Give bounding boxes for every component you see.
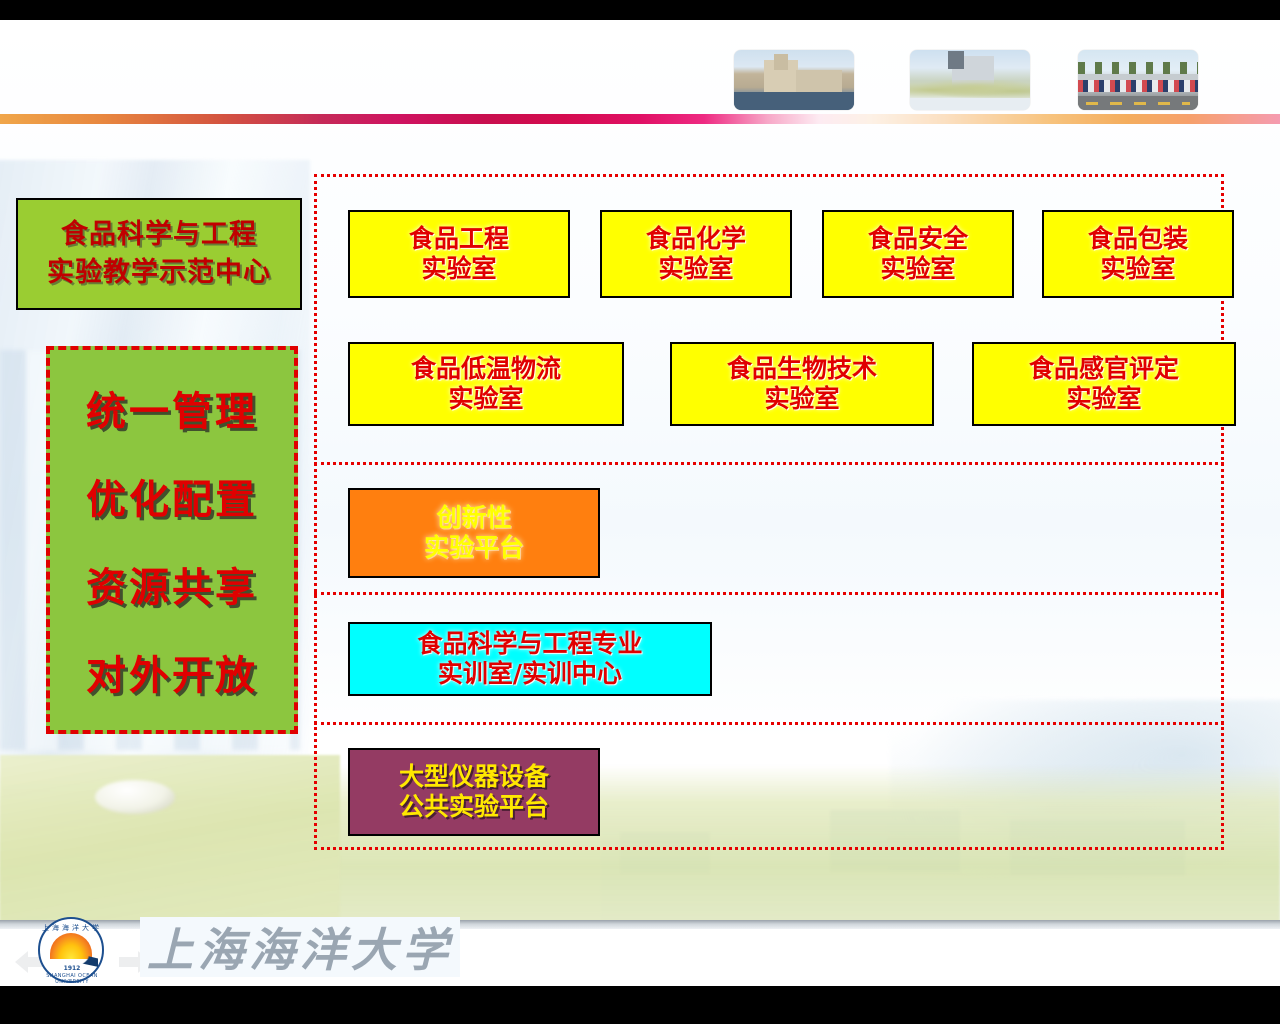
center-title-line-2: 实验教学示范中心 (47, 254, 271, 292)
innovation-label-line-2: 实验平台 (424, 533, 524, 564)
training-label-line-1: 食品科学与工程专业 (417, 629, 642, 660)
center-title-line-1: 食品科学与工程 (61, 216, 257, 254)
lab-box-food-chemistry[interactable]: 食品化学 实验室 (600, 210, 792, 298)
innovation-label-line-1: 创新性 (436, 503, 511, 534)
lab-label-line-2: 实验室 (1100, 254, 1175, 285)
principle-item-3: 资源共享 (86, 555, 258, 613)
slide-canvas: 食品科学与工程 实验教学示范中心 统一管理 优化配置 资源共享 对外开放 食品工… (0, 0, 1280, 1024)
equipment-platform-box[interactable]: 大型仪器设备 公共实验平台 (348, 748, 600, 836)
lab-label-line-1: 食品生物技术 (727, 354, 877, 385)
lab-label-line-2: 实验室 (658, 254, 733, 285)
lab-label-line-1: 食品低温物流 (411, 354, 561, 385)
equipment-label-line-1: 大型仪器设备 (399, 762, 549, 793)
lab-label-line-2: 实验室 (421, 254, 496, 285)
center-title-box: 食品科学与工程 实验教学示范中心 (16, 198, 302, 310)
section-divider-3 (314, 722, 1224, 725)
equipment-label-line-2: 公共实验平台 (399, 792, 549, 823)
training-center-box[interactable]: 食品科学与工程专业 实训室/实训中心 (348, 622, 712, 696)
lab-box-food-packaging[interactable]: 食品包装 实验室 (1042, 210, 1234, 298)
lab-label-line-1: 食品工程 (409, 224, 509, 255)
training-label-line-2: 实训室/实训中心 (438, 659, 622, 690)
lab-label-line-2: 实验室 (880, 254, 955, 285)
footer-branding: 上海海洋大学 1912 SHANGHAI OCEAN UNIVERSITY 上海… (0, 909, 1280, 986)
header-photo-2 (910, 50, 1030, 110)
lab-label-line-1: 食品安全 (868, 224, 968, 255)
lab-label-line-1: 食品包装 (1088, 224, 1188, 255)
principle-item-4: 对外开放 (86, 643, 258, 701)
logo-top-text: 上海海洋大学 (30, 923, 114, 933)
university-name-wordmark: 上海海洋大学 (140, 917, 460, 977)
lab-label-line-1: 食品感官评定 (1029, 354, 1179, 385)
principles-panel: 统一管理 优化配置 资源共享 对外开放 (46, 346, 298, 734)
university-name-text: 上海海洋大学 (147, 914, 453, 980)
section-divider-1 (314, 462, 1224, 465)
lab-box-food-biotechnology[interactable]: 食品生物技术 实验室 (670, 342, 934, 426)
logo-arc-text: SHANGHAI OCEAN UNIVERSITY (30, 973, 114, 985)
innovation-platform-box[interactable]: 创新性 实验平台 (348, 488, 600, 578)
letterbox-bottom (0, 986, 1280, 1024)
principle-item-2: 优化配置 (86, 467, 258, 525)
lab-label-line-1: 食品化学 (646, 224, 746, 255)
letterbox-top (0, 0, 1280, 20)
lab-label-line-2: 实验室 (764, 384, 839, 415)
header-photo-3 (1078, 50, 1198, 110)
principle-item-1: 统一管理 (86, 379, 258, 437)
lab-box-food-safety[interactable]: 食品安全 实验室 (822, 210, 1014, 298)
logo-year: 1912 (30, 965, 114, 972)
background-rock (95, 780, 175, 814)
header-gradient-rule (0, 114, 1280, 124)
header-photo-1 (734, 50, 854, 110)
university-logo-icon: 上海海洋大学 1912 SHANGHAI OCEAN UNIVERSITY (30, 915, 114, 985)
lab-label-line-2: 实验室 (448, 384, 523, 415)
lab-box-cold-chain-logistics[interactable]: 食品低温物流 实验室 (348, 342, 624, 426)
lab-box-food-engineering[interactable]: 食品工程 实验室 (348, 210, 570, 298)
lab-label-line-2: 实验室 (1066, 384, 1141, 415)
lab-box-sensory-evaluation[interactable]: 食品感官评定 实验室 (972, 342, 1236, 426)
section-divider-2 (314, 592, 1224, 595)
